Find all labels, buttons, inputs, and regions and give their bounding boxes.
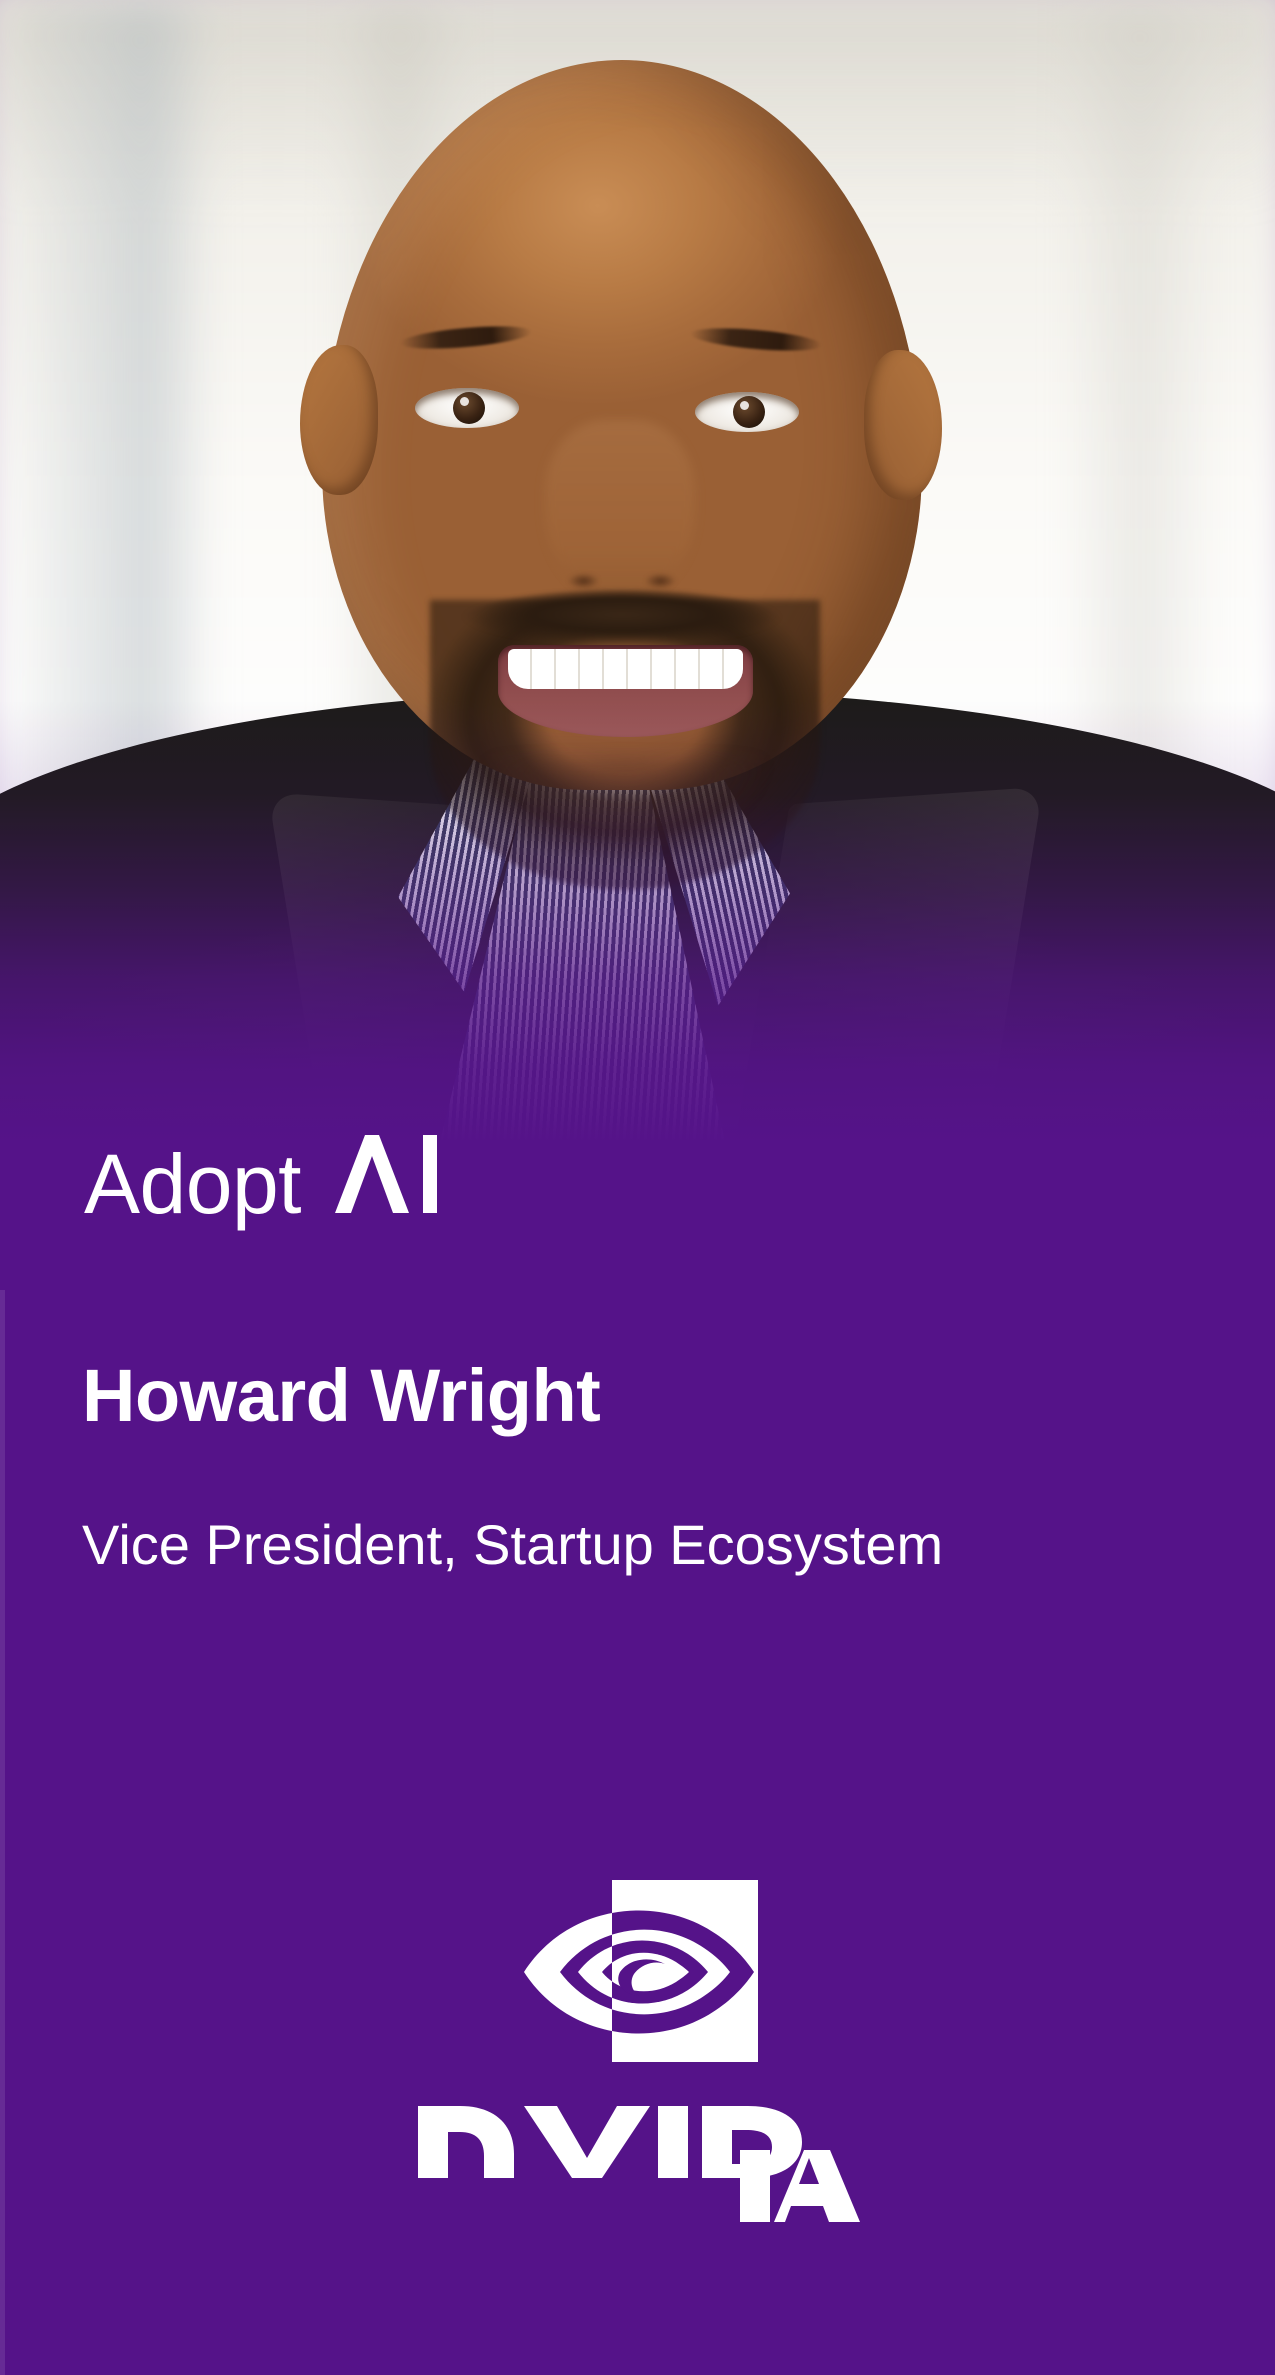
adopt-ai-logo-word: Adopt: [84, 1142, 301, 1226]
speaker-name: Howard Wright: [82, 1355, 600, 1436]
card-content: Adopt Howard Wright Vice President, Star…: [0, 0, 1275, 2375]
vertical-bar-icon: [423, 1135, 437, 1213]
nvidia-logo[interactable]: [0, 1860, 1275, 2188]
lambda-glyph-icon: [335, 1135, 409, 1213]
lambda-i-mark: [335, 1137, 439, 1213]
speaker-title: Vice President, Startup Ecosystem: [82, 1505, 1002, 1585]
nvidia-eye-icon: [508, 1860, 768, 2082]
nvidia-wordmark-ia-icon: [740, 2140, 860, 2232]
adopt-ai-logo[interactable]: Adopt: [84, 1137, 439, 1226]
speaker-card: Adopt Howard Wright Vice President, Star…: [0, 0, 1275, 2375]
